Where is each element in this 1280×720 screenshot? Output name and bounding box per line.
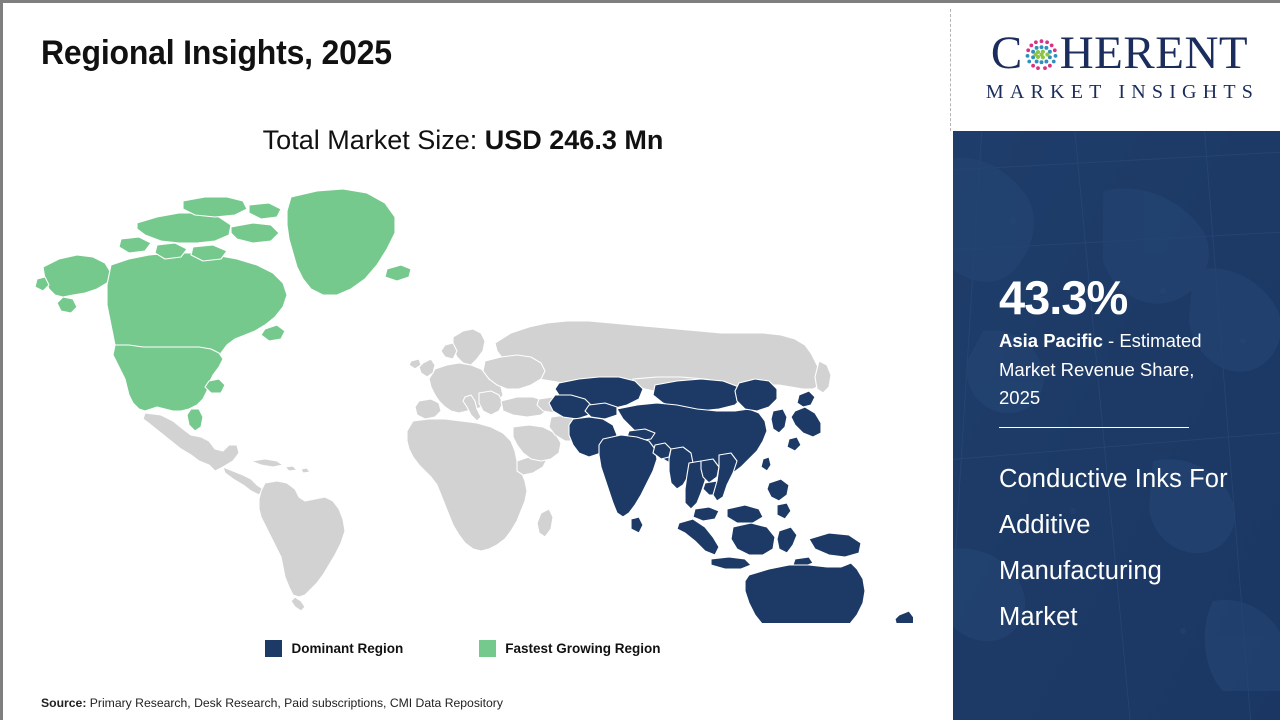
- dotted-globe-icon: [1024, 34, 1059, 69]
- stat-region-name: Asia Pacific: [999, 330, 1103, 351]
- market-name-title: Conductive Inks For Additive Manufacturi…: [999, 457, 1239, 641]
- logo-wordmark: C: [991, 30, 1248, 77]
- source-line: Source: Primary Research, Desk Research,…: [41, 696, 503, 710]
- source-label: Source:: [41, 696, 86, 710]
- infographic-canvas: Regional Insights, 2025 Total Market Siz…: [0, 0, 1280, 720]
- legend-item-fastest-growing: Fastest Growing Region: [479, 640, 660, 657]
- legend-label-dominant: Dominant Region: [291, 641, 403, 656]
- market-size-label: Total Market Size:: [263, 125, 478, 155]
- logo-letters-herent: HERENT: [1060, 30, 1248, 77]
- logo-letter-c: C: [991, 30, 1023, 77]
- stat-percentage-value: 43.3%: [999, 274, 1127, 321]
- total-market-size: Total Market Size: USD 246.3 Mn: [3, 125, 923, 156]
- page-title: Regional Insights, 2025: [41, 34, 392, 73]
- legend-label-fastest-growing: Fastest Growing Region: [505, 641, 660, 656]
- stats-panel: 43.3% Asia Pacific - Estimated Market Re…: [953, 131, 1280, 720]
- left-panel: Regional Insights, 2025 Total Market Siz…: [3, 3, 950, 720]
- stat-divider-rule: [999, 427, 1189, 428]
- logo-tagline: MARKET INSIGHTS: [980, 81, 1259, 104]
- stats-panel-content: 43.3% Asia Pacific - Estimated Market Re…: [999, 131, 1245, 720]
- green-square-icon: [479, 640, 496, 657]
- navy-square-icon: [265, 640, 282, 657]
- world-map: [33, 183, 913, 623]
- vertical-dashed-divider: [950, 9, 951, 131]
- market-size-value: USD 246.3 Mn: [485, 125, 664, 155]
- legend-item-dominant: Dominant Region: [265, 640, 403, 657]
- stat-description: Asia Pacific - Estimated Market Revenue …: [999, 327, 1239, 413]
- map-region-dominant: [549, 377, 913, 623]
- map-legend: Dominant Region Fastest Growing Region: [3, 640, 923, 657]
- brand-logo: C: [956, 3, 1280, 131]
- map-region-fastest-growing: [35, 189, 411, 431]
- source-text: Primary Research, Desk Research, Paid su…: [86, 696, 503, 710]
